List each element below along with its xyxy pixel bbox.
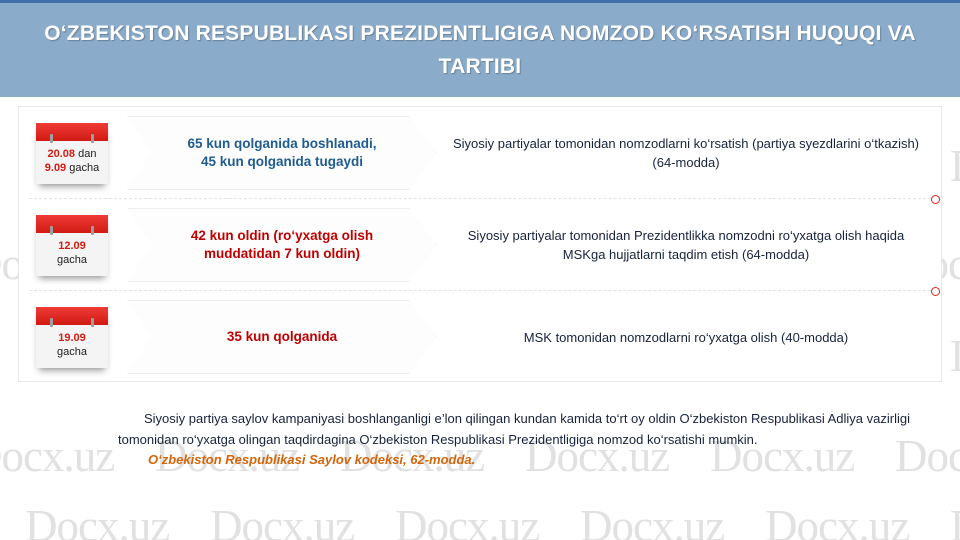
timeline-row: 12.09gacha42 kun oldin (ro‘yxatga olish …	[19, 199, 941, 291]
calendar-ring-icon	[50, 134, 53, 143]
watermark-text: Docx.uz	[0, 430, 114, 482]
calendar-date-line-1: 12.09	[38, 239, 106, 253]
calendar-date-value: 9.09	[45, 162, 66, 174]
description-cell: MSK tomonidan nomzodlarni ro‘yxatga olis…	[439, 328, 941, 347]
chevron-arrow-icon: 65 kun qolganida boshlanadi, 45 kun qolg…	[127, 116, 437, 190]
timeline-card: 20.08 dan9.09 gacha65 kun qolganida bosh…	[18, 106, 942, 382]
description-cell: Siyosiy partiyalar tomonidan Prezidentli…	[439, 226, 941, 264]
watermark-text: Docx.uz	[25, 500, 169, 540]
calendar-cell: 12.09gacha	[19, 215, 125, 276]
calendar-date-line-1: 20.08 dan	[38, 147, 106, 161]
calendar-date-suffix: dan	[75, 148, 96, 160]
chevron-label: 65 kun qolganida boshlanadi, 45 kun qolg…	[158, 135, 406, 171]
calendar-ring-icon	[91, 134, 94, 143]
calendar-header	[36, 123, 108, 141]
watermark-text: Docx.uz	[580, 500, 724, 540]
calendar-icon: 12.09gacha	[36, 215, 108, 276]
calendar-header	[36, 307, 108, 325]
calendar-date-label: 12.09gacha	[36, 233, 108, 276]
calendar-date-line-2: gacha	[38, 253, 106, 267]
chevron-arrow-icon: 42 kun oldin (ro‘yxatga olish muddatidan…	[127, 208, 437, 282]
watermark-text: Docx.uz	[950, 330, 960, 382]
calendar-ring-icon	[91, 318, 94, 327]
description-cell: Siyosiy partiyalar tomonidan nomzodlarni…	[439, 134, 941, 172]
calendar-date-suffix: gacha	[66, 162, 99, 174]
calendar-date-label: 19.09gacha	[36, 325, 108, 368]
calendar-date-suffix: gacha	[57, 254, 87, 266]
calendar-cell: 19.09gacha	[19, 307, 125, 368]
calendar-ring-icon	[50, 318, 53, 327]
page-title: O‘ZBEKISTON RESPUBLIKASI PREZIDENTLIGIGA…	[40, 17, 920, 83]
calendar-icon: 20.08 dan9.09 gacha	[36, 123, 108, 184]
calendar-date-value: 20.08	[48, 148, 76, 160]
calendar-icon: 19.09gacha	[36, 307, 108, 368]
header-band: O‘ZBEKISTON RESPUBLIKASI PREZIDENTLIGIGA…	[0, 0, 960, 97]
watermark-text: Docx.uz	[210, 500, 354, 540]
description-text: Siyosiy partiyalar tomonidan Prezidentli…	[447, 226, 925, 264]
footer-paragraph: Siyosiy partiya saylov kampaniyasi boshl…	[118, 408, 918, 450]
calendar-cell: 20.08 dan9.09 gacha	[19, 123, 125, 184]
timeline-row: 19.09gacha35 kun qolganidaMSK tomonidan …	[19, 291, 941, 383]
watermark-text: Docx.uz	[765, 500, 909, 540]
watermark-text: Docx.uz	[950, 140, 960, 192]
calendar-date-line-1: 19.09	[38, 331, 106, 345]
description-text: Siyosiy partiyalar tomonidan nomzodlarni…	[453, 134, 919, 172]
description-text: MSK tomonidan nomzodlarni ro‘yxatga olis…	[524, 328, 848, 347]
chevron-label: 42 kun oldin (ro‘yxatga olish muddatidan…	[158, 227, 406, 263]
watermark-text: Docx.uz	[395, 500, 539, 540]
footer-note: Siyosiy partiya saylov kampaniyasi boshl…	[118, 408, 918, 467]
calendar-ring-icon	[50, 226, 53, 235]
calendar-date-value: 19.09	[58, 332, 86, 344]
calendar-date-line-2: gacha	[38, 345, 106, 359]
calendar-date-label: 20.08 dan9.09 gacha	[36, 141, 108, 184]
chevron-arrow-icon: 35 kun qolganida	[127, 300, 437, 374]
watermark-text: Docx.uz	[950, 500, 960, 540]
chevron-cell: 65 kun qolganida boshlanadi, 45 kun qolg…	[125, 107, 439, 199]
calendar-date-suffix: gacha	[57, 346, 87, 358]
calendar-header	[36, 215, 108, 233]
chevron-cell: 35 kun qolganida	[125, 291, 439, 383]
chevron-cell: 42 kun oldin (ro‘yxatga olish muddatidan…	[125, 199, 439, 291]
calendar-ring-icon	[91, 226, 94, 235]
footer-citation: O‘zbekiston Respublikasi Saylov kodeksi,…	[148, 452, 918, 467]
chevron-label: 35 kun qolganida	[158, 328, 406, 346]
timeline-row: 20.08 dan9.09 gacha65 kun qolganida bosh…	[19, 107, 941, 199]
calendar-date-value: 12.09	[58, 240, 86, 252]
calendar-date-line-2: 9.09 gacha	[38, 161, 106, 175]
